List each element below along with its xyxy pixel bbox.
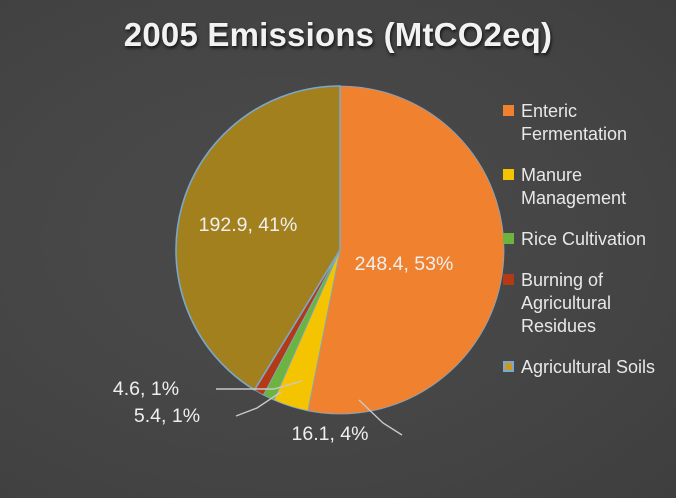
callout-data-label: 16.1, 4% [292, 423, 369, 445]
legend-item-label: Rice Cultivation [521, 228, 646, 251]
legend-item-label: Agricultural Soils [521, 356, 655, 379]
pie-slices-group [176, 86, 504, 414]
slice-data-label: 248.4, 53% [355, 253, 454, 275]
callout-data-label: 4.6, 1% [113, 378, 179, 400]
legend-item[interactable]: Manure Management [503, 164, 676, 210]
legend-swatch-icon [503, 169, 514, 180]
legend-swatch-icon [503, 233, 514, 244]
callout-data-label: 5.4, 1% [134, 405, 200, 427]
legend-item[interactable]: Agricultural Soils [503, 356, 676, 379]
slice-data-label: 192.9, 41% [199, 214, 298, 236]
legend-swatch-icon [503, 361, 514, 372]
legend-swatch-icon [503, 105, 514, 116]
legend-item[interactable]: Burning of Agricultural Residues [503, 269, 676, 338]
legend-swatch-icon [503, 274, 514, 285]
legend-item-label: Manure Management [521, 164, 626, 210]
legend-item[interactable]: Rice Cultivation [503, 228, 676, 251]
pie-chart-figure: 2005 Emissions (MtCO2eq) 248.4, 53%192.9… [0, 0, 676, 498]
chart-legend: Enteric FermentationManure ManagementRic… [503, 100, 676, 397]
legend-item-label: Enteric Fermentation [521, 100, 627, 146]
legend-item[interactable]: Enteric Fermentation [503, 100, 676, 146]
legend-item-label: Burning of Agricultural Residues [521, 269, 611, 338]
